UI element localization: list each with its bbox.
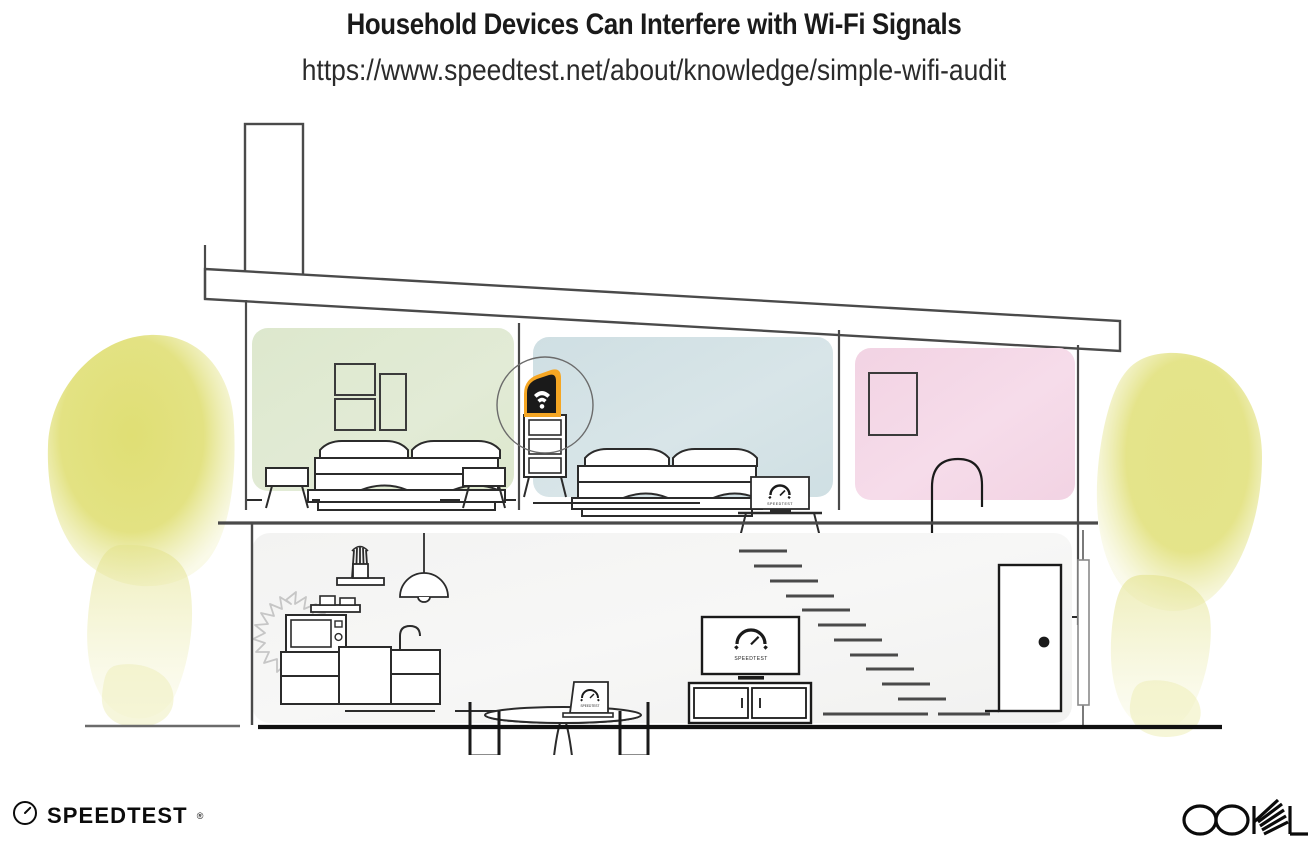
- monitor[interactable]: SPEEDTEST: [751, 477, 809, 512]
- source-url: https://www.speedtest.net/about/knowledg…: [78, 54, 1229, 88]
- tv-screen-logo: SPEEDTEST: [734, 656, 767, 662]
- speedtest-logo[interactable]: SPEEDTEST ®: [12, 800, 203, 831]
- house-illustration: SPEEDTEST: [0, 105, 1308, 755]
- television[interactable]: SPEEDTEST: [702, 617, 799, 680]
- speedtest-wordmark: SPEEDTEST: [47, 805, 188, 827]
- media-console: [689, 683, 811, 723]
- door-knob: [1039, 637, 1050, 648]
- room-ground-floor: SPEEDTEST: [252, 533, 1072, 755]
- page-title: Household Devices Can Interfere with Wi-…: [92, 8, 1217, 42]
- sidelight-window: [1078, 530, 1089, 725]
- foliage-left: [48, 335, 235, 727]
- speedtest-trademark: ®: [197, 811, 204, 821]
- room-blue-bedroom: SPEEDTEST: [497, 337, 833, 553]
- chimney: [245, 124, 303, 276]
- header: Household Devices Can Interfere with Wi-…: [0, 0, 1308, 88]
- poster-page: Household Devices Can Interfere with Wi-…: [0, 0, 1308, 861]
- monitor-screen-logo: SPEEDTEST: [767, 502, 793, 506]
- speedtest-gauge-icon: [12, 800, 38, 831]
- footer: SPEEDTEST ®: [0, 790, 1308, 850]
- wifi-router[interactable]: [524, 369, 561, 417]
- ground-line: [85, 726, 1222, 727]
- ookla-logo[interactable]: · OOKLA: [1178, 796, 1308, 840]
- foliage-right: [1097, 353, 1262, 737]
- room-green-bedroom: [246, 328, 516, 510]
- bed-blue: [572, 449, 762, 516]
- laptop-screen-logo: SPEEDTEST: [581, 704, 600, 708]
- microwave[interactable]: [286, 615, 346, 652]
